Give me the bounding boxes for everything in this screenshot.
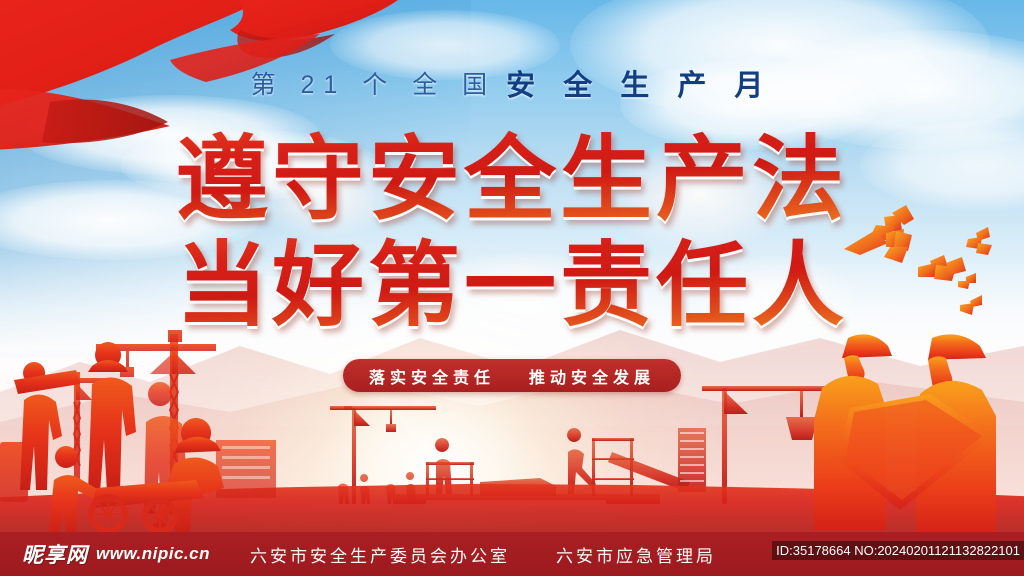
slogan-left: 落实安全责任 <box>369 364 495 388</box>
header-prefix: 第 21 个 全 国 <box>251 65 497 101</box>
nipic-watermark-logo: 昵享网 www.nipic.cn <box>22 539 210 569</box>
nipic-logo-cn: 昵享网 <box>22 539 88 569</box>
nipic-logo-url: www.nipic.cn <box>96 544 210 564</box>
header-emphasis: 安 全 生 产 月 <box>506 62 773 104</box>
footer-organizations: 六安市安全生产委员会办公室 六安市应急管理局 <box>250 542 716 567</box>
safety-production-poster: 第 21 个 全 国 安 全 生 产 月 遵守安全生产法 当好第一责任人 落实安… <box>0 0 1024 576</box>
title-line-1: 遵守安全生产法 <box>0 128 1024 232</box>
footer-org-1: 六安市安全生产委员会办公室 <box>250 542 510 567</box>
title-line-2: 当好第一责任人 <box>0 234 1024 338</box>
image-id-watermark: ID:35178664 NO:20240201121132822101 <box>772 541 1024 560</box>
left-workers-silhouette <box>0 322 330 532</box>
slogan-right: 推动安全发展 <box>529 364 655 388</box>
header-subtitle: 第 21 个 全 国 安 全 生 产 月 <box>0 62 1024 104</box>
footer-org-2: 六安市应急管理局 <box>556 542 716 567</box>
slogan-pill: 落实安全责任 推动安全发展 <box>343 359 681 392</box>
right-workers-silhouette <box>814 332 1024 532</box>
main-title-block: 遵守安全生产法 当好第一责任人 <box>0 128 1024 338</box>
